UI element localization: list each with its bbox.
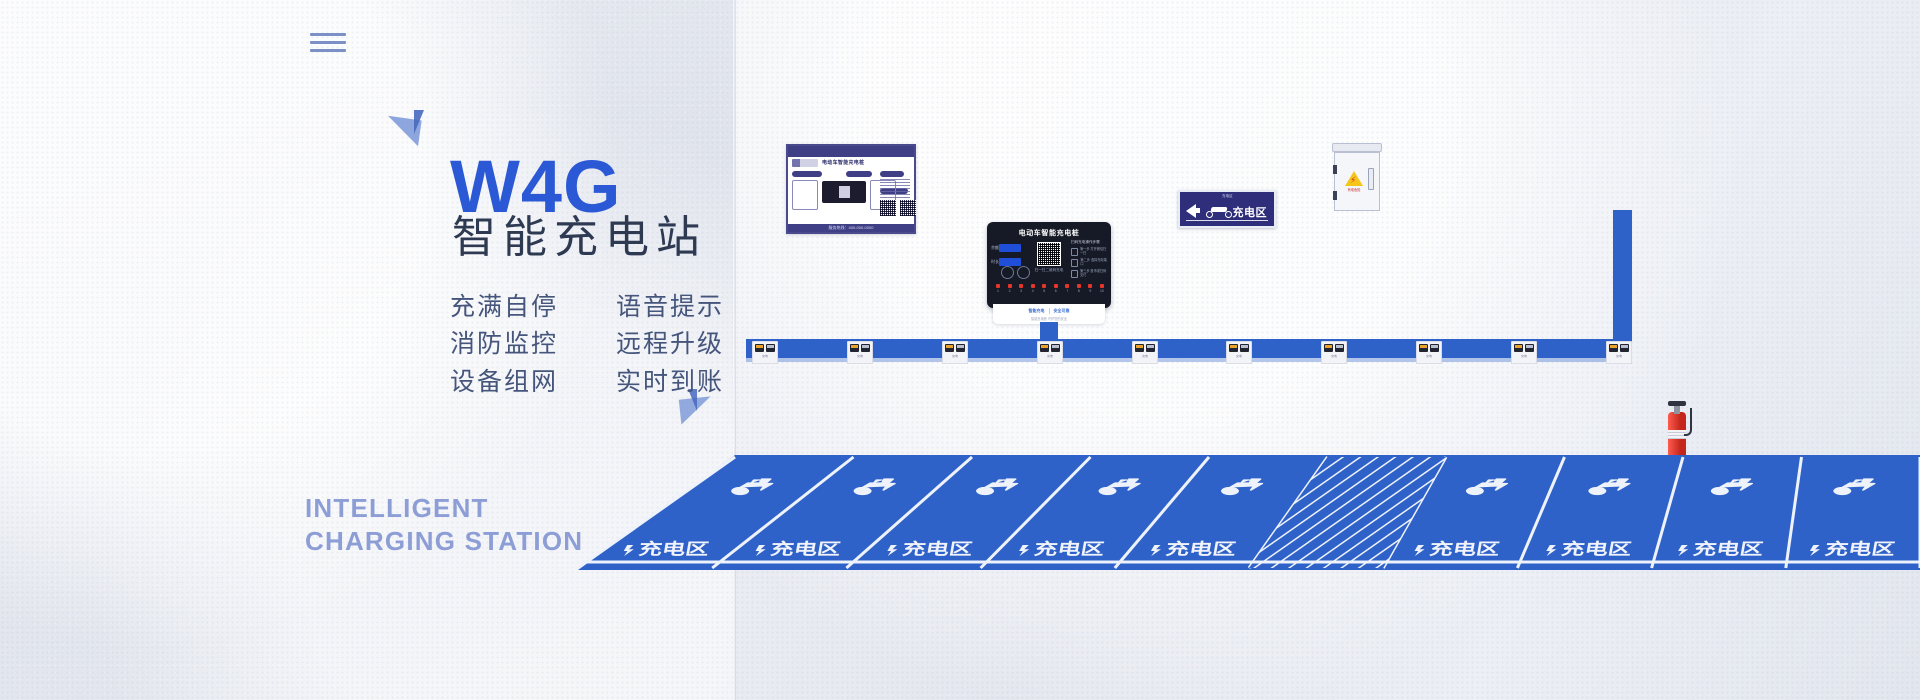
pile-port-led	[1031, 284, 1035, 288]
english-tagline: INTELLIGENT CHARGING STATION	[305, 492, 583, 559]
english-tagline-line1: INTELLIGENT	[305, 492, 583, 525]
parking-bay-label: 充电区	[1560, 539, 1633, 558]
warning-bolt-glyph: ⚡	[1350, 176, 1356, 185]
poster-section-a	[792, 171, 822, 177]
power-outlet-icon[interactable]: 充电	[1511, 341, 1537, 364]
parking-bay-label: 充电区	[637, 539, 710, 558]
poster-section-b	[846, 171, 872, 177]
pile-port-number: 4	[1030, 289, 1036, 293]
power-outlet-icon[interactable]: 充电	[1037, 341, 1063, 364]
pile-port-number: 2	[1007, 289, 1013, 293]
outlet-socket	[1324, 344, 1333, 352]
pile-instruction-row: 第三步 投币或扫码支付	[1071, 270, 1107, 278]
wall-power-rail-shadow	[746, 358, 1632, 362]
parking-bay-label: 充电区	[1428, 539, 1501, 558]
wall-power-rail-riser	[1613, 210, 1632, 341]
parking-bay-label: 充电区	[1692, 539, 1765, 558]
outlet-label: 充电	[1416, 354, 1442, 358]
hero-banner: W4G 智能充电站 充满自停 语音提示 消防监控 远程升级 设备组网 实时到账 …	[0, 0, 1920, 700]
parking-bay-label: 充电区	[1033, 539, 1106, 558]
ebox-hinge-bottom	[1333, 191, 1337, 200]
pile-port-indicators: 12345678910	[995, 284, 1105, 293]
feature-item: 消防监控	[450, 331, 594, 357]
pile-qr-caption: 扫一扫二维码充电	[1031, 268, 1067, 273]
wall-power-rail	[746, 339, 1632, 358]
feature-item: 设备组网	[450, 369, 594, 395]
pile-instruction-text: 第一步 打开微信扫一扫	[1080, 248, 1107, 256]
pile-port[interactable]: 10	[1099, 284, 1105, 293]
ebox-hinge-top	[1333, 165, 1337, 174]
outlet-socket	[1051, 344, 1060, 352]
outlet-label: 充电	[1606, 354, 1632, 358]
pile-footer-brand: 智能充电	[1029, 308, 1045, 314]
outlet-label: 充电	[1321, 354, 1347, 358]
fire-extinguisher-icon	[1664, 400, 1690, 462]
pile-port-number: 7	[1064, 289, 1070, 293]
parking-lot-svg: 充电区充电区充电区充电区充电区充电区充电区充电区充电区	[560, 455, 1920, 700]
ebox-handle	[1368, 168, 1374, 190]
pile-port-led	[1100, 284, 1104, 288]
power-outlet-icon[interactable]: 充电	[942, 341, 968, 364]
poster-section-c	[880, 171, 904, 177]
step-icon	[1071, 270, 1078, 278]
menu-bar-3	[310, 49, 346, 52]
feature-item: 远程升级	[616, 331, 724, 357]
power-outlet-icon[interactable]: 充电	[1226, 341, 1252, 364]
outlet-label: 充电	[1037, 354, 1063, 358]
sign-top-text: 充电区	[1222, 194, 1233, 199]
poster-footer-text: 服务热线：400-000-0000	[788, 224, 914, 232]
feature-item: 语音提示	[616, 294, 724, 320]
parking-lot-floor: 充电区充电区充电区充电区充电区充电区充电区充电区充电区	[560, 455, 1920, 700]
pile-footer-note: 智能充电桩 守护您的安全	[993, 316, 1105, 321]
poster-logo	[792, 159, 818, 167]
outlet-socket	[1609, 344, 1618, 352]
outlet-label: 充电	[1132, 354, 1158, 358]
poster-left-column	[792, 180, 818, 210]
poster-qr-wechat	[880, 200, 896, 216]
outlet-socket	[1620, 344, 1629, 352]
pile-display-label-1: 余额	[991, 245, 999, 251]
pile-port-led	[1042, 284, 1046, 288]
sign-underline	[1186, 220, 1268, 222]
pile-display-2	[999, 258, 1021, 266]
wall-poster: 电动车智能充电桩 服务热线：400-000-0000	[786, 144, 916, 234]
scooter-wheel-front	[1206, 211, 1213, 218]
charging-pile-unit[interactable]: 电动车智能充电桩 余额 时长 扫一扫二维码充电 扫码充电操作步骤 第一步 打开微…	[987, 222, 1111, 308]
pile-port-led	[996, 284, 1000, 288]
divider	[1049, 308, 1050, 314]
parking-bay-label: 充电区	[1823, 539, 1896, 558]
outlet-label: 充电	[1511, 354, 1537, 358]
outlet-socket	[850, 344, 859, 352]
pile-port[interactable]: 7	[1064, 284, 1070, 293]
pile-port[interactable]: 3	[1018, 284, 1024, 293]
outlet-socket	[1514, 344, 1523, 352]
pile-display-label-2: 时长	[991, 259, 999, 265]
feature-item: 实时到账	[616, 369, 724, 395]
pile-port-led	[1077, 284, 1081, 288]
pile-port[interactable]: 9	[1087, 284, 1093, 293]
poster-title: 电动车智能充电桩	[822, 159, 864, 166]
outlet-socket	[1146, 344, 1155, 352]
feature-item: 充满自停	[450, 294, 594, 320]
pile-instruction-row: 第一步 打开微信扫一扫	[1071, 248, 1107, 256]
outlet-socket	[1135, 344, 1144, 352]
feature-row: 消防监控 远程升级	[450, 331, 724, 357]
outlet-socket	[1419, 344, 1428, 352]
pile-port[interactable]: 1	[995, 284, 1001, 293]
direction-sign: 充电区 充电区	[1178, 190, 1276, 228]
poster-qr-alipay	[900, 200, 916, 216]
pile-instructions: 扫码充电操作步骤 第一步 打开微信扫一扫 第二步 选择充电端口 第三步 投币或扫…	[1071, 240, 1107, 281]
menu-bar-1	[310, 33, 346, 36]
pile-port-number: 8	[1076, 289, 1082, 293]
pile-port-number: 1	[995, 289, 1001, 293]
outlet-socket	[1240, 344, 1249, 352]
pile-port-number: 5	[1041, 289, 1047, 293]
outlet-label: 充电	[752, 354, 778, 358]
power-outlet-icon[interactable]: 充电	[752, 341, 778, 364]
feature-row: 设备组网 实时到账	[450, 369, 724, 395]
pile-instruction-text: 第二步 选择充电端口	[1080, 259, 1107, 267]
outlet-label: 充电	[1226, 354, 1252, 358]
ebox-top-cap	[1332, 143, 1382, 152]
feature-row: 充满自停 语音提示	[450, 294, 724, 320]
pile-port-number: 10	[1099, 289, 1105, 293]
step-icon	[1071, 259, 1078, 267]
outlet-socket	[1040, 344, 1049, 352]
scooter-body	[1210, 207, 1227, 212]
pile-port[interactable]: 2	[1007, 284, 1013, 293]
pile-port[interactable]: 5	[1041, 284, 1047, 293]
pile-port-led	[1008, 284, 1012, 288]
brand-subtitle: 智能充电站	[452, 216, 707, 260]
outlet-socket	[945, 344, 954, 352]
poster-footer: 服务热线：400-000-0000	[788, 224, 914, 232]
pile-port[interactable]: 8	[1076, 284, 1082, 293]
pile-port-led	[1065, 284, 1069, 288]
pile-port[interactable]: 4	[1030, 284, 1036, 293]
pile-qr-code[interactable]	[1037, 242, 1061, 266]
pile-instructions-title: 扫码充电操作步骤	[1071, 240, 1107, 245]
pile-footer-brand-2: 安全可靠	[1054, 308, 1070, 314]
pile-instruction-text: 第三步 投币或扫码支付	[1080, 270, 1107, 278]
power-outlet-icon[interactable]: 充电	[847, 341, 873, 364]
power-outlet-icon[interactable]: 充电	[1321, 341, 1347, 364]
parking-bay-label: 充电区	[1164, 539, 1237, 558]
pile-port-led	[1019, 284, 1023, 288]
pile-port-number: 9	[1087, 289, 1093, 293]
pile-footer-panel: 智能充电 安全可靠 智能充电桩 守护您的安全	[993, 304, 1105, 324]
pile-instruction-row: 第二步 选择充电端口	[1071, 259, 1107, 267]
outlet-socket	[766, 344, 775, 352]
extinguisher-neck	[1674, 405, 1680, 414]
sign-label: 充电区	[1233, 204, 1268, 220]
electrical-distribution-box: ⚡ 有电危险	[1334, 143, 1380, 211]
pile-port-number: 3	[1018, 289, 1024, 293]
outlet-socket	[1229, 344, 1238, 352]
outlet-socket	[1335, 344, 1344, 352]
pile-port-led	[1088, 284, 1092, 288]
feature-list: 充满自停 语音提示 消防监控 远程升级 设备组网 实时到账	[450, 294, 724, 406]
power-outlet-icon[interactable]: 充电	[1132, 341, 1158, 364]
left-arrow-tail	[1195, 208, 1200, 213]
english-tagline-line2: CHARGING STATION	[305, 525, 583, 558]
pile-port-number: 6	[1053, 289, 1059, 293]
menu-bars-icon[interactable]	[310, 33, 346, 52]
menu-bar-2	[310, 41, 346, 44]
outlet-label: 充电	[847, 354, 873, 358]
parking-bay-label: 充电区	[769, 539, 842, 558]
power-outlet-icon[interactable]: 充电	[1606, 341, 1632, 364]
poster-top-bar	[788, 146, 914, 157]
outlet-socket	[861, 344, 870, 352]
extinguisher-hose	[1684, 408, 1692, 436]
parking-bay-label: 充电区	[901, 539, 974, 558]
poster-text-lines	[880, 179, 910, 200]
pile-port-led	[1054, 284, 1058, 288]
outlet-label: 充电	[942, 354, 968, 358]
outlet-socket	[1525, 344, 1534, 352]
outlet-socket	[1430, 344, 1439, 352]
scooter-wheel-rear	[1225, 211, 1232, 218]
step-icon	[1071, 248, 1078, 256]
power-outlet-icon[interactable]: 充电	[1416, 341, 1442, 364]
outlet-socket	[755, 344, 764, 352]
pile-knob-dial[interactable]	[1001, 266, 1014, 279]
warning-label: 有电危险	[1342, 187, 1366, 192]
extinguisher-handle	[1668, 401, 1686, 406]
pile-display-1	[999, 244, 1021, 252]
pile-port[interactable]: 6	[1053, 284, 1059, 293]
outlet-socket	[956, 344, 965, 352]
charging-pile-title: 电动车智能充电桩	[987, 228, 1111, 238]
pile-knob-confirm[interactable]	[1017, 266, 1030, 279]
poster-device-image	[822, 181, 866, 203]
scooter-icon	[1206, 205, 1232, 218]
